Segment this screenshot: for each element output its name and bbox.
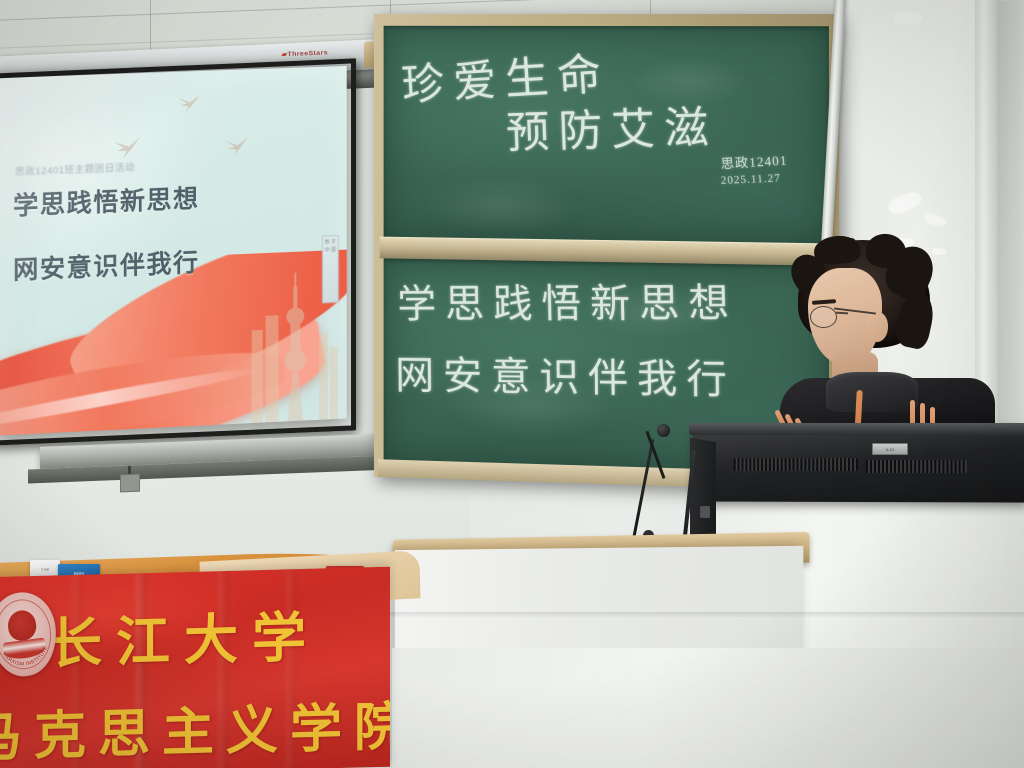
ear — [866, 312, 888, 342]
chalk-lower-line2: 网安意识伴我行 — [395, 343, 736, 405]
microphone-head-icon — [657, 424, 670, 437]
lectern-lower-panel: YANGTZE UNIVERSITY — [392, 648, 1024, 768]
banner-line2: 马克思主义学院 — [0, 684, 390, 768]
lectern-console — [693, 427, 1024, 502]
projection-screen: 数 字 中 国 思政12401班主题团日活动 学思践悟新思想 网安意识伴我行 — [0, 66, 347, 436]
svg-text:MARXISM INSTITUTE: MARXISM INSTITUTE — [0, 644, 51, 670]
emblem-arc-text: MARXISM INSTITUTE — [0, 593, 56, 676]
eyeglasses-icon — [810, 306, 837, 328]
blackboard-upper-panel: 珍爱生命 预防艾滋 思政12401 2025.11.27 — [384, 26, 829, 246]
console-vent — [734, 458, 858, 471]
console-lip — [689, 423, 1024, 435]
shelf-bracket — [120, 474, 140, 493]
console-latch[interactable] — [700, 506, 710, 518]
screen-brand-label: ▰ThreeStars — [282, 49, 328, 58]
classroom-photo: ▰ThreeStars — [0, 0, 1024, 768]
chalk-class-tag: 思政12401 — [720, 149, 788, 172]
console-vent — [866, 460, 967, 473]
banner-line1: 长江大学 — [48, 593, 320, 679]
red-banner: 长江大学 马克思主义学院 MARXISM INSTITUTE — [0, 567, 390, 768]
lectern-seam — [390, 612, 1024, 617]
chalk-date: 2025.11.27 — [720, 172, 781, 187]
chalk-upper-line2: 预防艾滋 — [505, 91, 719, 161]
console-badge: A-01 — [872, 443, 908, 455]
jacket-collar — [826, 372, 918, 412]
chalk-lower-line1: 学思践悟新思想 — [397, 270, 739, 329]
screen-glare — [0, 66, 347, 436]
